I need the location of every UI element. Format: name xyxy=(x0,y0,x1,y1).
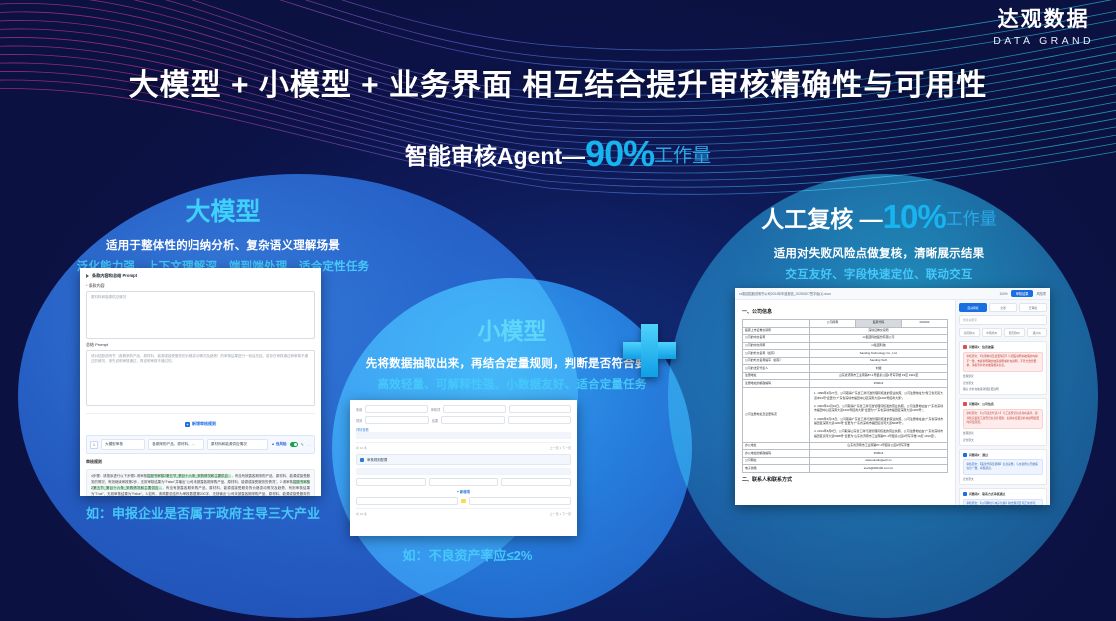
rule-toggle[interactable] xyxy=(290,442,298,447)
review-card-action[interactable]: 定位原文 xyxy=(963,438,1043,442)
form-field[interactable] xyxy=(469,497,571,505)
table-cell: 公司的中文名称 xyxy=(743,335,810,343)
table-row: 公司注册地址及变更情况 1. 1999年3月27日，公司取得广东省工商行政管理局… xyxy=(743,387,948,442)
sidebar-tab-auto[interactable]: 自动审核 xyxy=(959,303,987,312)
table-row: 公司简称 股票代码 000100 xyxy=(743,320,948,328)
sidebar-search-input[interactable]: 搜索关键字 xyxy=(959,315,1047,325)
doc-toolbar[interactable]: xx集团招股说明书公司2024年年度报告_20250327签字版(1).docx… xyxy=(735,288,1050,300)
caret-right-icon xyxy=(86,274,89,278)
form-label: 规则 xyxy=(356,418,362,423)
agent-workload-header: 智能审核Agent—90%工作量 xyxy=(0,133,1116,175)
large-model-heading: 大模型 xyxy=(58,192,388,228)
review-card-title: 问题项3：通过 xyxy=(969,453,988,457)
table-cell: Sanding Tech xyxy=(810,357,948,365)
human-review-line1: 适用对失败风险点做复核，清晰展示结果 xyxy=(690,245,1068,261)
table-row: 公司的外文名称缩写（如有）Sanding Tech xyxy=(743,357,948,365)
table-row: 注册地址的邮政编码250014 xyxy=(743,380,948,388)
info-icon xyxy=(963,492,967,496)
table-row: 公司的中文简称xx集团科技 xyxy=(743,342,948,350)
toolbar-tab-risk[interactable]: 风险项 xyxy=(1036,291,1046,296)
add-rule-button[interactable]: +新增审核规则 xyxy=(179,419,222,429)
doc-section-heading: 一、公司信息 xyxy=(742,308,948,315)
review-card[interactable]: 问题项4：联系方式审核通过 审核原文：【公司网址与电子信箱】格式规范且可正常访问… xyxy=(959,488,1047,505)
sidebar-tab-reviewed[interactable]: 已审核 xyxy=(1019,303,1047,312)
footer-pager[interactable]: 上一页 1 下一页 xyxy=(550,512,571,516)
plus-icon xyxy=(623,324,676,377)
prompt-section-title: 条款内容和总结 Prompt xyxy=(92,273,137,279)
table-cell: 公司简称 xyxy=(810,320,856,328)
edit-icon[interactable]: ✎ xyxy=(301,442,304,447)
table-cell: 深圳证券交易所 xyxy=(810,327,948,335)
review-card-quote: 审核原文：【公司网址与电子信箱】格式规范且可正常访问，符合信息披露要求，审核通过… xyxy=(963,499,1043,505)
table-cell: 办公地址 xyxy=(743,442,810,450)
form-field[interactable] xyxy=(501,478,571,486)
doc-section2-heading: 二、联系人和联系方式 xyxy=(742,476,948,483)
brand-name-en: DATA GRAND xyxy=(993,35,1094,47)
footer-count: 共 12 条 xyxy=(356,446,367,450)
table-row: 公司的法定代表人刘斌 xyxy=(743,365,948,373)
form-row[interactable]: 规则 结果 xyxy=(356,416,571,424)
panel-title: 审核规则配置 xyxy=(367,457,387,462)
review-card-title: 问题项2：公司信息 xyxy=(969,402,994,406)
toolbar-tab-review[interactable]: 审核结果 xyxy=(1011,290,1034,297)
clause-content-input[interactable]: 原材料和能源供应情况 xyxy=(86,291,315,339)
form-field[interactable] xyxy=(429,478,499,486)
sidebar-tabs[interactable]: 自动审核 全部 已审核 xyxy=(959,303,1047,312)
page-title: 大模型 + 小模型 + 业务界面 相互结合提升审核精确性与可用性 xyxy=(0,60,1116,104)
prompt-section-header[interactable]: 条款内容和总结 Prompt xyxy=(86,273,315,279)
alert-icon xyxy=(963,345,967,349)
review-sidebar[interactable]: 自动审核 全部 已审核 搜索关键字 高风险(3) 中风险(5) 低风险(8) 通… xyxy=(955,300,1050,505)
add-rule-label: 新增审核规则 xyxy=(192,421,216,426)
panel-icon xyxy=(360,458,364,462)
zoom-level[interactable]: 100% xyxy=(1000,292,1008,296)
sidebar-filters[interactable]: 高风险(3) 中风险(5) 低风险(8) 通过(2) xyxy=(959,328,1047,337)
slide-stage: 达观数据 DATA GRAND 大模型 + 小模型 + 业务界面 相互结合提升审… xyxy=(0,0,1116,621)
history-para: 3. 2009年6月15日，公司取得广东省工商行政管理局核发的营业执照，公司注册… xyxy=(812,415,945,428)
footer-pager[interactable]: 上一页 1 下一页 xyxy=(550,446,571,450)
small-model-line2: 高效轻量、可解释性强、小数据友好、适合定量任务 xyxy=(318,376,706,392)
divider xyxy=(86,413,315,414)
table-cell: 公司的中文简称 xyxy=(743,342,810,350)
table-cell: 公司的外文名称（如有） xyxy=(743,350,810,358)
agent-header-prefix: 智能审核Agent— xyxy=(405,143,585,169)
rule-index: 1 xyxy=(90,441,98,449)
review-card-title: 问题项1：信息披露 xyxy=(969,345,994,349)
filter-passed[interactable]: 通过(2) xyxy=(1027,328,1048,337)
large-model-example: 如：申报企业是否属于政府主导三大产业 xyxy=(78,503,328,522)
table-cell: 注册地址的邮政编码 xyxy=(743,380,810,388)
table-footer: 共 12 条 上一页 1 下一页 xyxy=(356,442,571,450)
company-info-table: 公司简称 股票代码 000100 股票上市证券交易所深圳证券交易所 公司的中文名… xyxy=(742,319,948,473)
add-item-button[interactable]: + 新增项 xyxy=(457,489,470,494)
table-cell: xx集团科技 xyxy=(810,342,948,350)
table-cell: 山东省济南市工业南路87-1号银泰公园1号写字楼 xyxy=(810,442,948,450)
brand-logo: 达观数据 DATA GRAND xyxy=(993,8,1094,47)
table-cell: 股票代码 xyxy=(856,320,902,328)
filter-mid-risk[interactable]: 中风险(5) xyxy=(982,328,1003,337)
summary-prompt-label: 总结 Prompt xyxy=(86,342,315,348)
table-cell: 公司的外文名称缩写（如有） xyxy=(743,357,810,365)
review-card-header: 问题项4：联系方式审核通过 xyxy=(963,492,1043,496)
agent-header-suffix: 工作量 xyxy=(654,146,711,167)
human-review-percent: 10% xyxy=(883,198,946,235)
required-mark: * xyxy=(86,283,88,288)
form-field[interactable] xyxy=(365,405,427,413)
footer-count: 共 12 条 xyxy=(356,512,367,516)
rule-row[interactable]: 1 大模型审核 各期采购产品、原材料、… 原材料和能源供应情况 ▲ 低风险 ✎ … xyxy=(86,435,315,454)
table-row: 办公地址山东省济南市工业南路87-1号银泰公园1号写字楼 xyxy=(743,442,948,450)
placeholder-bar xyxy=(356,468,571,475)
rule-chip-scope[interactable]: 各期采购产品、原材料、… xyxy=(148,439,204,450)
form-field[interactable] xyxy=(365,416,428,424)
table-cell: 电子信箱 xyxy=(743,465,810,473)
rule-highlight-1: 招股书审核2第五节_第目十六条_采购情况和主要供应… xyxy=(147,474,231,478)
form-row[interactable] xyxy=(356,497,571,505)
filter-low-risk[interactable]: 低风险(8) xyxy=(1004,328,1025,337)
history-para: 1. 1999年3月27日，公司取得广东省工商行政管理局核发的营业执照，公司注册… xyxy=(812,389,945,402)
review-card-quote: 审核原文：【注册地址及变更情况】与招股说明书披露的内容不一致，未提供明确的披露说… xyxy=(963,352,1043,372)
info-icon xyxy=(963,453,967,457)
form-label: 条款 xyxy=(356,407,362,412)
table-cell: 办公地址的邮政编码 xyxy=(743,450,810,458)
placeholder-bar xyxy=(356,432,571,439)
large-model-screenshot[interactable]: 条款内容和总结 Prompt * 条款内容 原材料和能源供应情况 总结 Prom… xyxy=(80,268,321,496)
table-cell: 250014 xyxy=(810,380,948,388)
review-card-action[interactable]: 定位原文 xyxy=(963,381,1043,385)
review-card[interactable]: 问题项1：信息披露 审核原文：【注册地址及变更情况】与招股说明书披露的内容不一致… xyxy=(959,341,1047,395)
history-para: 2. 2003年12月19日，公司取得广东省工商行政管理局核发的营业执照，公司注… xyxy=(812,402,945,415)
human-review-suffix: 工作量 xyxy=(946,210,997,229)
table-row: 公司的外文名称（如有）Sanding Technology Co., Ltd. xyxy=(743,350,948,358)
more-icon[interactable]: … xyxy=(307,442,311,447)
filter-high-risk[interactable]: 高风险(3) xyxy=(959,328,980,337)
small-model-example: 如：不良资产率应≤2% xyxy=(355,545,580,564)
table-row: 注册地址山东省济南市工业南路87-1号银泰公园1号写字楼 19层 1910室 xyxy=(743,372,948,380)
table-cell: stock@000100.com.cn xyxy=(810,465,948,473)
table-cell: 山东省济南市工业南路87-1号银泰公园1号写字楼 19层 1910室 xyxy=(810,372,948,380)
form-row[interactable]: 条款 审核项 xyxy=(356,405,571,413)
table-row: 股票上市证券交易所深圳证券交易所 xyxy=(743,327,948,335)
human-review-heading: 人工复核 —10%工作量 xyxy=(690,198,1068,236)
form-field[interactable] xyxy=(508,416,571,424)
table-cell: 公司的法定代表人 xyxy=(743,365,810,373)
panel-header[interactable]: 审核规则配置 xyxy=(356,454,571,465)
rule-chip-type[interactable]: 大模型审核 xyxy=(101,439,145,450)
table-cell: xx集团科技股份有限公司 xyxy=(810,335,948,343)
table-cell: 1. 1999年3月27日，公司取得广东省工商行政管理局核发的营业执照，公司注册… xyxy=(810,387,948,442)
form-field[interactable] xyxy=(356,478,426,486)
form-field[interactable] xyxy=(443,405,505,413)
review-card[interactable]: 问题项3：通过 审核原文：【股票代码及简称】信息完整，与交易所公开披露信息一致，… xyxy=(959,449,1047,486)
form-label: 结果 xyxy=(432,418,438,423)
table-cell: 000100 xyxy=(902,320,948,328)
history-para: 4. 2014年8月8日，公司取得山东省工商行政管理局核发的营业执照，公司注册地… xyxy=(812,427,945,440)
form-field[interactable] xyxy=(441,416,504,424)
doc-filename: xx集团招股说明书公司2024年年度报告_20250327签字版(1).docx xyxy=(739,291,997,296)
review-card-action[interactable]: 确认 并补充披露详细变更说明 xyxy=(963,387,1043,391)
review-card-header: 问题项1：信息披露 xyxy=(963,345,1043,349)
table-cell: 公司注册地址及变更情况 xyxy=(743,387,810,442)
table-cell xyxy=(743,320,810,328)
human-review-screenshot[interactable]: xx集团招股说明书公司2024年年度报告_20250327签字版(1).docx… xyxy=(735,288,1050,505)
review-card-title: 问题项4：联系方式审核通过 xyxy=(969,492,1005,496)
form-row[interactable] xyxy=(356,478,571,486)
human-review-text-block: 人工复核 —10%工作量 适用对失败风险点做复核，清晰展示结果 交互友好、字段快… xyxy=(690,198,1068,282)
summary-prompt-input[interactable]: 请对招股说明书（各期采购产品、原材料、能源或接受服务的价格变动情况及趋势）的审核… xyxy=(86,350,315,406)
review-card-header: 问题项3：通过 xyxy=(963,453,1043,457)
table-footer: 共 12 条 上一页 1 下一页 xyxy=(356,508,571,516)
review-card-quote: 审核原文：【股票代码及简称】信息完整，与交易所公开披露信息一致，审核通过。 xyxy=(963,459,1043,475)
table-row: 办公地址的邮政编码250014 xyxy=(743,450,948,458)
plus-small-icon: + xyxy=(185,422,190,427)
table-cell: 公司网址 xyxy=(743,457,810,465)
human-review-prefix: 人工复核 — xyxy=(761,206,882,232)
form-label: 审核项 xyxy=(431,407,441,412)
table-row: 公司的中文名称xx集团科技股份有限公司 xyxy=(743,335,948,343)
clause-content-label: * 条款内容 xyxy=(86,283,315,289)
review-card[interactable]: 问题项2：公司信息 审核原文：【公司法定代表人】与工商登记信息存在差异，建议核实… xyxy=(959,398,1047,445)
alert-icon xyxy=(963,402,967,406)
table-cell: www.sandingtech.cn xyxy=(810,457,948,465)
risk-badge: ▲ 低风险 xyxy=(271,442,286,447)
table-cell: 注册地址 xyxy=(743,372,810,380)
review-card-action[interactable]: 定位原文 xyxy=(963,477,1043,481)
review-card-quote: 审核原文：【公司法定代表人】与工商登记信息存在差异，建议核实最新工商登记信息并更… xyxy=(963,409,1043,429)
review-card-action[interactable]: 处理建议 xyxy=(963,431,1043,435)
large-model-line1: 适用于整体性的归纳分析、复杂语义理解场景 xyxy=(58,237,388,253)
review-card-header: 问题项2：公司信息 xyxy=(963,402,1043,406)
large-model-text-block: 大模型 适用于整体性的归纳分析、复杂语义理解场景 泛化能力强、上下文理解深、端到… xyxy=(58,192,388,274)
review-card-action[interactable]: 处理建议 xyxy=(963,374,1043,378)
human-review-line2: 交互友好、字段快速定位、联动交互 xyxy=(690,266,1068,282)
status-chip xyxy=(461,499,466,503)
table-row: 电子信箱stock@000100.com.cn xyxy=(743,465,948,473)
table-cell: Sanding Technology Co., Ltd. xyxy=(810,350,948,358)
rule-detail-title: 审核规则 xyxy=(86,459,315,465)
form-field[interactable] xyxy=(356,497,458,505)
rule-chip-clause[interactable]: 原材料和能源供应情况 xyxy=(207,439,268,450)
agent-header-percent: 90% xyxy=(585,133,654,174)
form-field[interactable] xyxy=(509,405,571,413)
small-model-screenshot[interactable]: 条款 审核项 规则 结果 详情查看 共 12 条 上一页 1 下一页 xyxy=(350,400,577,536)
table-cell: 股票上市证券交易所 xyxy=(743,327,810,335)
sidebar-tab-all[interactable]: 全部 xyxy=(989,303,1017,312)
document-pane[interactable]: 一、公司信息 公司简称 股票代码 000100 股票上市证券交易所深圳证券交易所… xyxy=(735,300,955,505)
table-row: 公司网址www.sandingtech.cn xyxy=(743,457,948,465)
table-cell: 刘斌 xyxy=(810,365,948,373)
brand-name-cn: 达观数据 xyxy=(993,8,1094,32)
table-cell: 250014 xyxy=(810,450,948,458)
rule-detail-body: 4步骤：请按序进行以下步骤1.请审核招股书审核2第五节_第目十六条_采购情况和主… xyxy=(86,469,315,496)
